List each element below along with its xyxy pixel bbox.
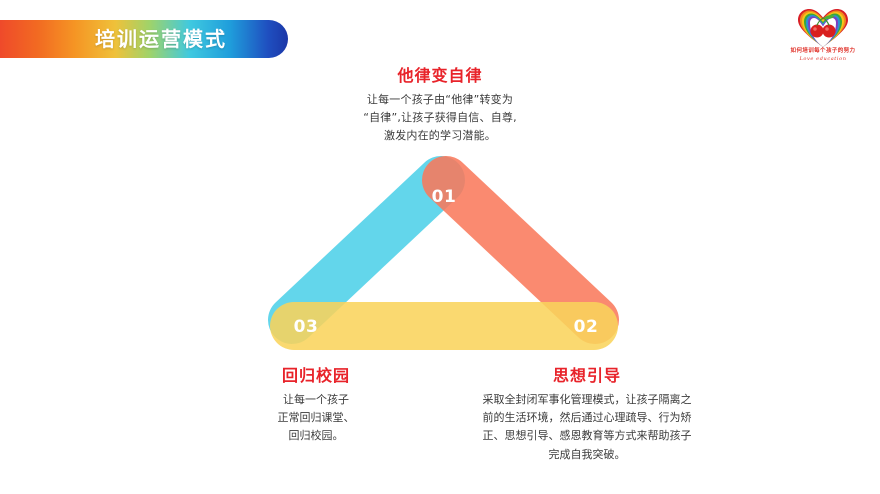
brand-logo: 如何培训每个孩子的努力 Love education — [780, 8, 866, 66]
node-02-label: 02 — [574, 317, 599, 337]
block-top-line: “自律”,让孩子获得自信、自尊, — [300, 109, 580, 127]
diagram-arm-left[interactable] — [292, 180, 441, 320]
logo-cn-text: 如何培训每个孩子的努力 — [791, 49, 856, 55]
text-block-left: 回归校园 让每一个孩子 正常回归课堂、 回归校园。 — [218, 366, 414, 446]
block-right-heading: 思想引导 — [432, 366, 742, 385]
diagram-node-02[interactable]: 02 — [574, 317, 599, 337]
diagram-arm-right[interactable] — [446, 180, 595, 320]
text-block-right: 思想引导 采取全封闭军事化管理模式，让孩子隔离之 前的生活环境，然后通过心理疏导… — [432, 366, 742, 464]
block-right-line: 完成自我突破。 — [432, 446, 742, 464]
text-block-top: 他律变自律 让每一个孩子由“他律”转变为 “自律”,让孩子获得自信、自尊, 激发… — [300, 66, 580, 146]
block-right-body: 采取全封闭军事化管理模式，让孩子隔离之 前的生活环境，然后通过心理疏导、行为矫 … — [432, 391, 742, 464]
block-left-line: 回归校园。 — [218, 427, 414, 445]
block-left-body: 让每一个孩子 正常回归课堂、 回归校园。 — [218, 391, 414, 445]
block-left-heading: 回归校园 — [218, 366, 414, 385]
triangle-cycle-diagram: 01 02 03 — [268, 160, 620, 356]
block-left-line: 正常回归课堂、 — [218, 409, 414, 427]
block-top-heading: 他律变自律 — [300, 66, 580, 85]
logo-en-text: Love education — [799, 57, 846, 62]
block-right-line: 正、思想引导、感恩教育等方式来帮助孩子 — [432, 427, 742, 445]
page-title: 培训运营模式 — [61, 29, 227, 49]
rainbow-heart-cherry-icon — [796, 8, 850, 48]
node-01-label: 01 — [432, 187, 457, 207]
diagram-node-01[interactable]: 01 — [432, 187, 457, 207]
block-top-line: 激发内在的学习潜能。 — [300, 127, 580, 145]
block-left-line: 让每一个孩子 — [218, 391, 414, 409]
block-right-line: 前的生活环境，然后通过心理疏导、行为矫 — [432, 409, 742, 427]
node-03-label: 03 — [294, 317, 319, 337]
diagram-node-03[interactable]: 03 — [294, 317, 319, 337]
block-right-line: 采取全封闭军事化管理模式，让孩子隔离之 — [432, 391, 742, 409]
title-banner: 培训运营模式 — [0, 20, 288, 58]
block-top-body: 让每一个孩子由“他律”转变为 “自律”,让孩子获得自信、自尊, 激发内在的学习潜… — [300, 91, 580, 145]
triangle-diagram-svg: 01 02 03 — [268, 160, 620, 356]
slide-root: 培训运营模式 — [0, 0, 880, 494]
block-top-line: 让每一个孩子由“他律”转变为 — [300, 91, 580, 109]
